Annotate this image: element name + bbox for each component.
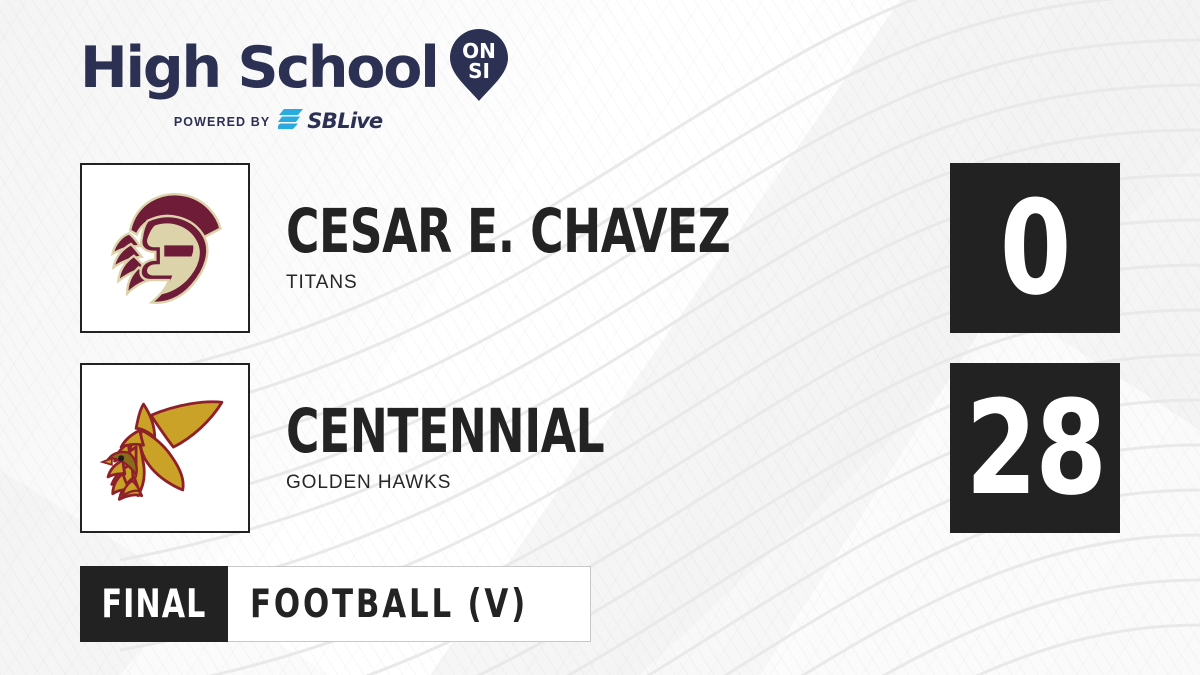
brand-title-row: High School ON SI <box>80 36 510 100</box>
sblive-bold-part: SBL <box>307 109 350 133</box>
game-status-label: FINAL <box>102 582 207 627</box>
powered-by-label: POWERED BY <box>174 115 270 129</box>
sblive-wordmark: SBLive <box>307 111 382 132</box>
team-score: 28 <box>965 383 1105 513</box>
sblive-s-icon <box>278 108 304 135</box>
team-mascot: TITANS <box>286 272 926 294</box>
team-info: CESAR E. CHAVEZ TITANS <box>286 163 926 333</box>
status-bar: FINAL FOOTBALL (V) <box>80 566 591 642</box>
team-score-box: 28 <box>950 363 1120 533</box>
brand-logo: High School ON SI POWERED BY SBLive <box>80 36 510 136</box>
team-score: 0 <box>1000 183 1070 313</box>
team-info: CENTENNIAL GOLDEN HAWKS <box>286 363 926 533</box>
sport-label-box: FOOTBALL (V) <box>228 566 591 642</box>
golden-hawk-logo <box>95 378 235 518</box>
scoreboard-graphic: High School ON SI POWERED BY SBLive <box>0 0 1200 675</box>
brand-title: High School <box>80 39 438 97</box>
on-si-pin-icon: ON SI <box>448 28 510 107</box>
game-status-badge: FINAL <box>80 566 228 642</box>
team-mascot: GOLDEN HAWKS <box>286 472 926 494</box>
powered-by-row: POWERED BY SBLive <box>80 108 476 135</box>
on-si-pin-bottom-label: SI <box>468 59 490 83</box>
sport-label: FOOTBALL (V) <box>250 582 528 627</box>
sblive-light-part: ive <box>350 109 382 133</box>
team-logo-box <box>80 163 250 333</box>
team-logo-box <box>80 363 250 533</box>
spartan-helmet-logo <box>97 180 233 316</box>
team-score-box: 0 <box>950 163 1120 333</box>
team-name: CESAR E. CHAVEZ <box>286 203 817 261</box>
team-name: CENTENNIAL <box>286 403 817 461</box>
